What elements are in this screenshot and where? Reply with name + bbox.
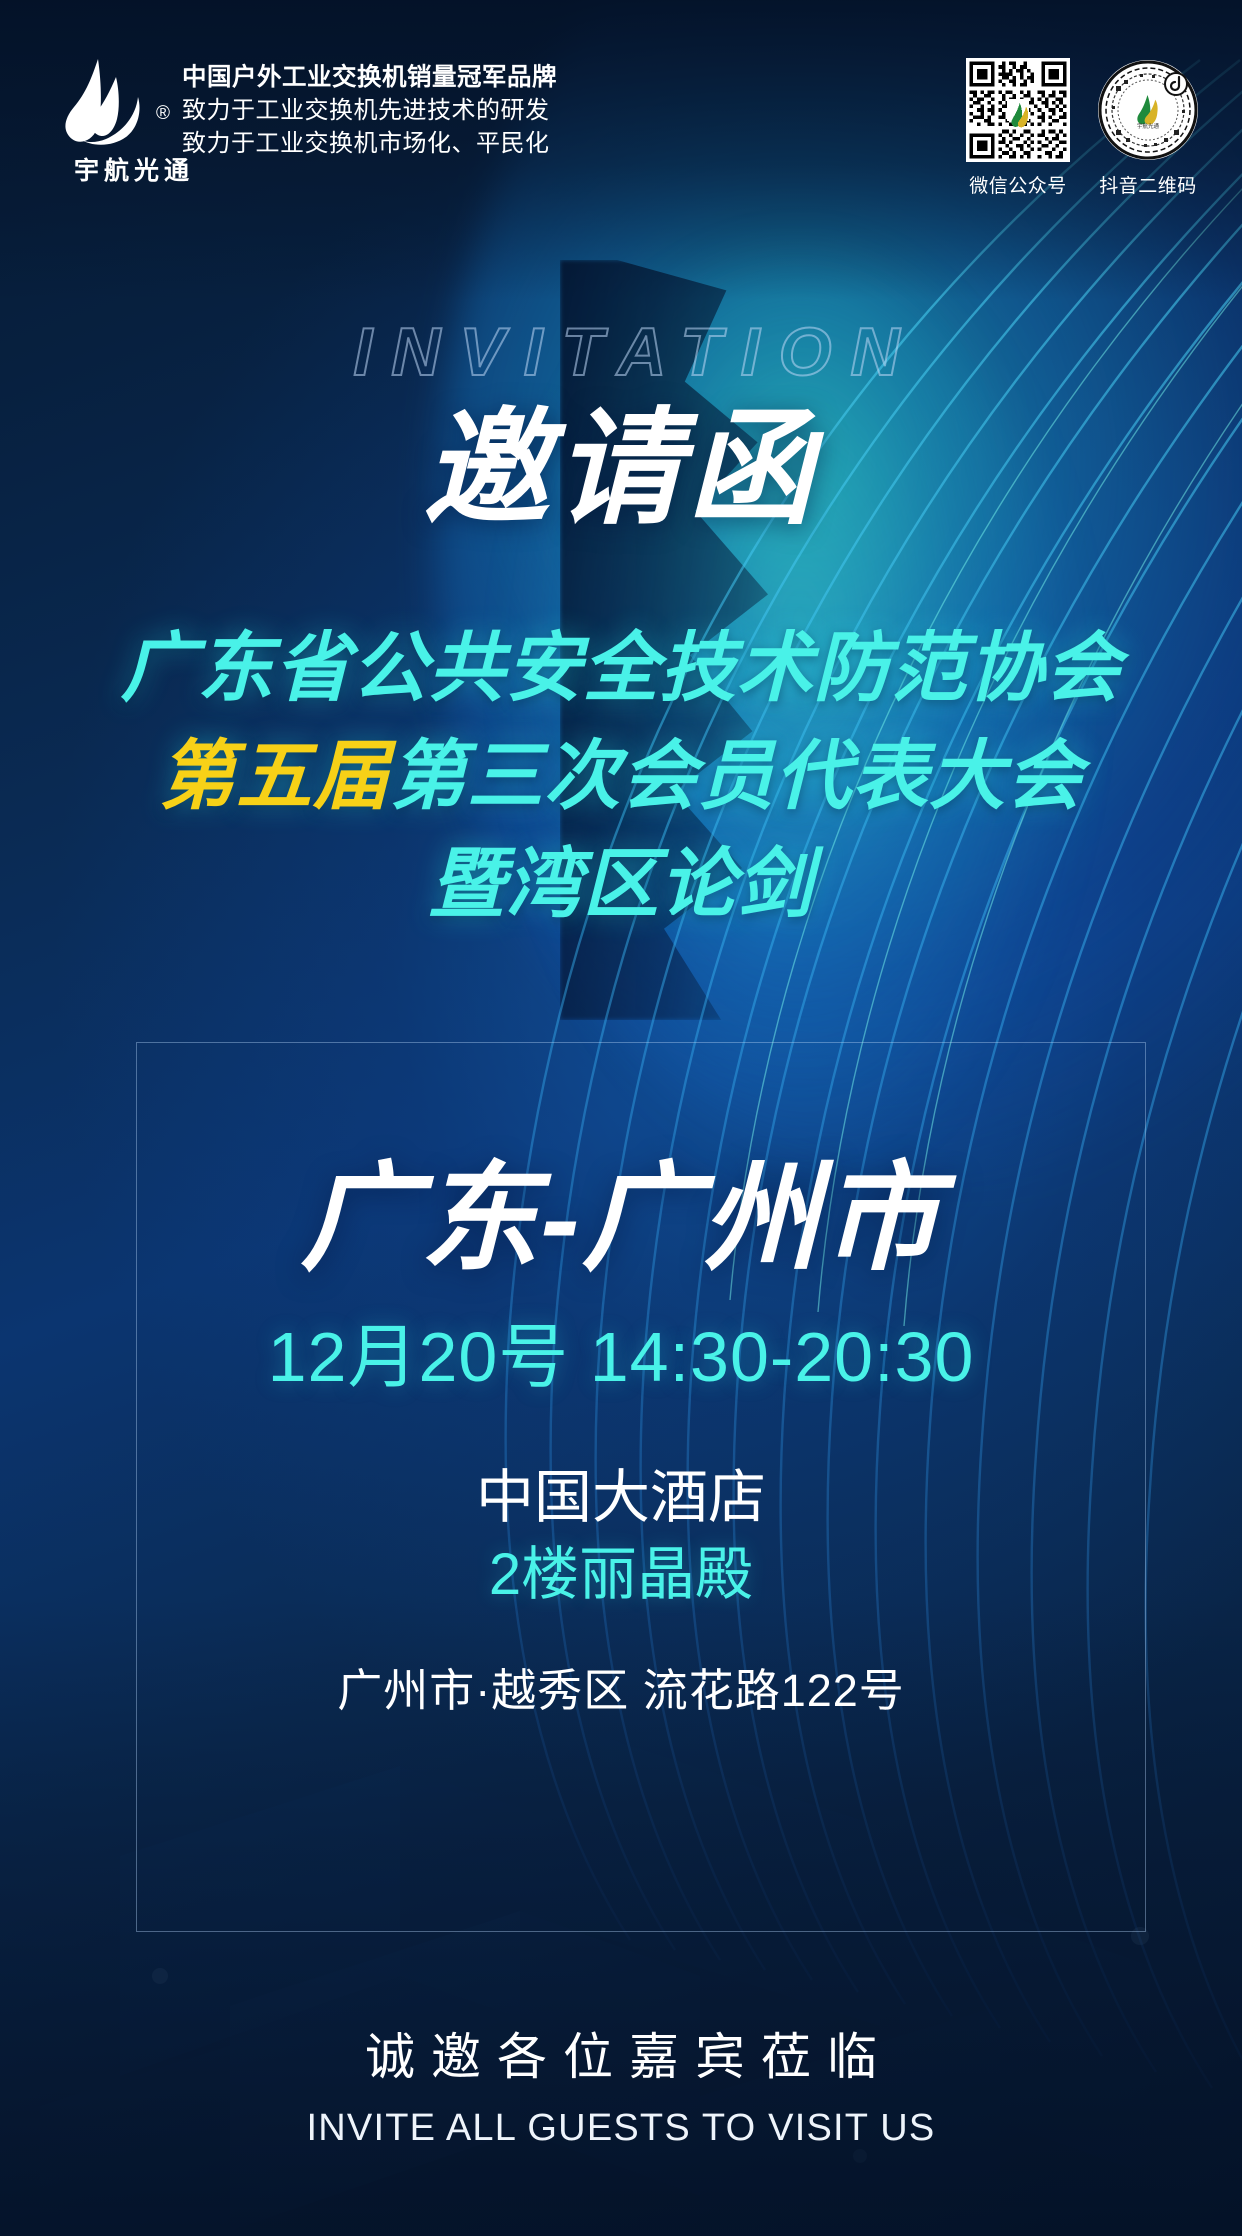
subtitle-block: 广东省公共安全技术防范协会 第五届第三次会员代表大会 暨湾区论剑 [0, 615, 1242, 939]
flame-wing-logo-icon [52, 55, 152, 147]
invitation-english-title: INVITATION [0, 318, 1242, 386]
qr-code-group: 微信公众号 [966, 58, 1200, 198]
subtitle-line-2: 第五届第三次会员代表大会 [0, 723, 1242, 831]
qr-item-wechat[interactable]: 微信公众号 [966, 58, 1070, 198]
footer-chinese-text: 诚邀各位嘉宾莅临 [0, 2025, 1242, 2090]
subtitle-line-2-highlight: 第五届 [159, 734, 390, 819]
subtitle-line-3-text: 暨湾区论剑 [429, 842, 814, 927]
title-block: INVITATION 邀请函 [0, 318, 1242, 546]
qr-item-douyin[interactable]: 宇航光通 抖音二维码 [1096, 58, 1200, 198]
event-info-block: 广东-广州市 12月20号 14:30-20:30 中国大酒店 2楼丽晶殿 广州… [0, 1150, 1242, 1720]
subtitle-line-2-rest: 第三次会员代表大会 [390, 734, 1083, 819]
brand-name: 宇航光通 [74, 151, 194, 187]
event-address: 广州市·越秀区 流花路122号 [0, 1663, 1242, 1719]
wechat-qr-icon[interactable] [966, 58, 1070, 162]
douyin-qr-icon[interactable]: 宇航光通 [1096, 58, 1200, 162]
poster-header: ® 宇航光通 中国户外工业交换机销量冠军品牌 致力于工业交换机先进技术的研发 致… [0, 0, 1242, 215]
subtitle-line-1-text: 广东省公共安全技术防范协会 [121, 626, 1122, 711]
event-city: 广东-广州市 [0, 1150, 1242, 1289]
brand-tagline-1: 中国户外工业交换机销量冠军品牌 [182, 61, 557, 94]
svg-text:宇航光通: 宇航光通 [1137, 122, 1160, 130]
qr-label-douyin: 抖音二维码 [1096, 171, 1200, 198]
brand-block: ® 宇航光通 中国户外工业交换机销量冠军品牌 致力于工业交换机先进技术的研发 致… [52, 55, 557, 160]
event-venue: 中国大酒店 [0, 1461, 1242, 1534]
event-datetime: 12月20号 14:30-20:30 [0, 1315, 1242, 1399]
invitation-poster: ® 宇航光通 中国户外工业交换机销量冠军品牌 致力于工业交换机先进技术的研发 致… [0, 0, 1242, 2236]
event-hall: 2楼丽晶殿 [0, 1538, 1242, 1611]
registered-mark: ® [156, 103, 170, 125]
subtitle-line-3: 暨湾区论剑 [0, 831, 1242, 939]
qr-label-wechat: 微信公众号 [966, 171, 1070, 198]
brand-tagline-2: 致力于工业交换机先进技术的研发 [182, 94, 557, 127]
subtitle-line-1: 广东省公共安全技术防范协会 [0, 615, 1242, 723]
invitation-chinese-title: 邀请函 [0, 392, 1242, 546]
brand-taglines: 中国户外工业交换机销量冠军品牌 致力于工业交换机先进技术的研发 致力于工业交换机… [182, 55, 557, 160]
footer-english-text: INVITE ALL GUESTS TO VISIT US [0, 2106, 1242, 2152]
footer-block: 诚邀各位嘉宾莅临 INVITE ALL GUESTS TO VISIT US [0, 2025, 1242, 2152]
brand-tagline-3: 致力于工业交换机市场化、平民化 [182, 127, 557, 160]
